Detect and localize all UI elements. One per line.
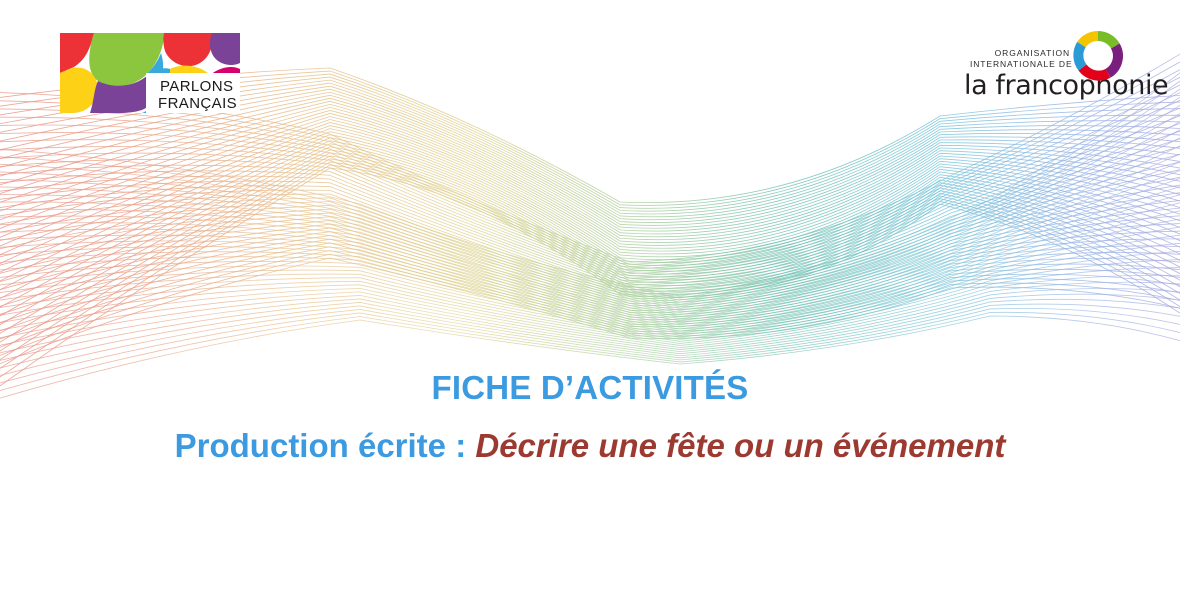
subtitle-prefix: Production écrite : [175, 427, 476, 464]
subtitle-topic: Décrire une fête ou un événement [475, 427, 1005, 464]
parlons-francais-logo: PARLONS FRANÇAIS [60, 33, 240, 113]
slide-canvas: PARLONS FRANÇAIS ORGANISATION INTERNATIO… [0, 0, 1180, 604]
title-block: FICHE D’ACTIVITÉS Production écrite : Dé… [0, 368, 1180, 467]
pf-label-line2: FRANÇAIS [158, 95, 237, 112]
oif-wordmark: la francophonie [964, 70, 1168, 101]
oif-organisation-text: ORGANISATION INTERNATIONALE DE [970, 48, 1070, 70]
page-subtitle: Production écrite : Décrire une fête ou … [0, 425, 1180, 467]
oif-ring-icon [1070, 28, 1126, 84]
oif-line1: ORGANISATION [970, 48, 1070, 59]
oif-line2: INTERNATIONALE DE [970, 59, 1070, 70]
oif-logo: ORGANISATION INTERNATIONALE DE la franco… [970, 28, 1130, 106]
page-title: FICHE D’ACTIVITÉS [0, 368, 1180, 408]
pf-label-line1: PARLONS [160, 78, 233, 95]
